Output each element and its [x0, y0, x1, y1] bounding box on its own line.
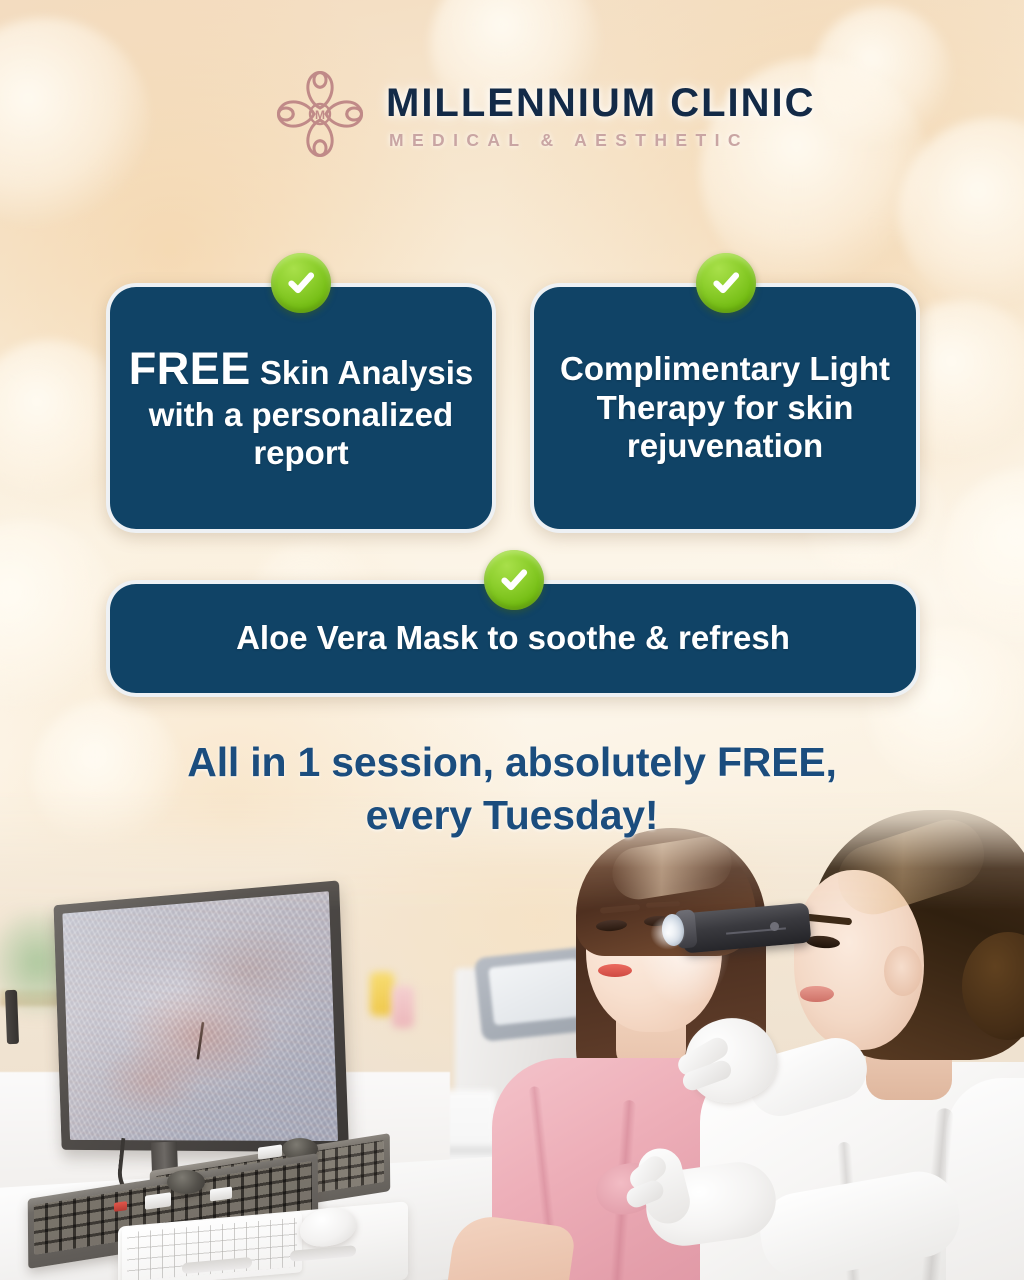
monitor-side-port	[5, 990, 19, 1044]
clinician-shoulder	[946, 1078, 1024, 1280]
brand-tagline: MEDICAL & AESTHETIC	[386, 132, 816, 150]
benefit-card-text: FREE Skin Analysis with a personalized r…	[110, 343, 492, 473]
scope-light-glow	[650, 916, 686, 950]
shelf-item-pink	[392, 986, 414, 1028]
offer-tagline: All in 1 session, absolutely FREE, every…	[0, 736, 1024, 842]
clinician-lips	[800, 986, 834, 1002]
svg-text:M: M	[315, 108, 325, 122]
brand-logo: M MILLENNIUM CLINIC MEDICAL & AESTHETIC	[268, 62, 816, 166]
patient-lips	[598, 964, 632, 977]
skin-analysis-monitor	[54, 880, 349, 1152]
console-knob	[167, 1170, 205, 1194]
tagline-line1-prefix: All in 1 session, absolutely	[187, 739, 717, 785]
shelf-item-yellow	[370, 972, 394, 1016]
clinic-photo	[0, 790, 1024, 1280]
screen-glare	[62, 891, 338, 1141]
green-check-circle-icon	[484, 550, 544, 610]
monitor-screen-magnified-skin	[62, 891, 338, 1141]
promotional-poster: M MILLENNIUM CLINIC MEDICAL & AESTHETIC …	[0, 0, 1024, 1280]
console-red-key	[114, 1201, 127, 1212]
brand-name: MILLENNIUM CLINIC	[386, 83, 816, 123]
tagline-line2-bold: every Tuesday!	[366, 792, 659, 838]
tagline-line1-bold: FREE,	[717, 739, 837, 785]
clinician-ear	[884, 946, 922, 996]
benefit-card-text: Aloe Vera Mask to soothe & refresh	[218, 619, 808, 658]
benefit-card-text: Complimentary Light Therapy for skin rej…	[534, 350, 916, 466]
benefit-emphasis-word: FREE	[129, 343, 251, 394]
four-petal-flower-monogram-icon: M	[268, 62, 372, 166]
green-check-circle-icon	[271, 253, 331, 313]
benefit-card-light-therapy: Complimentary Light Therapy for skin rej…	[530, 283, 920, 533]
benefit-card-free-skin-analysis: FREE Skin Analysis with a personalized r…	[106, 283, 496, 533]
green-check-circle-icon	[696, 253, 756, 313]
clinic-machine-screen	[488, 958, 584, 1025]
